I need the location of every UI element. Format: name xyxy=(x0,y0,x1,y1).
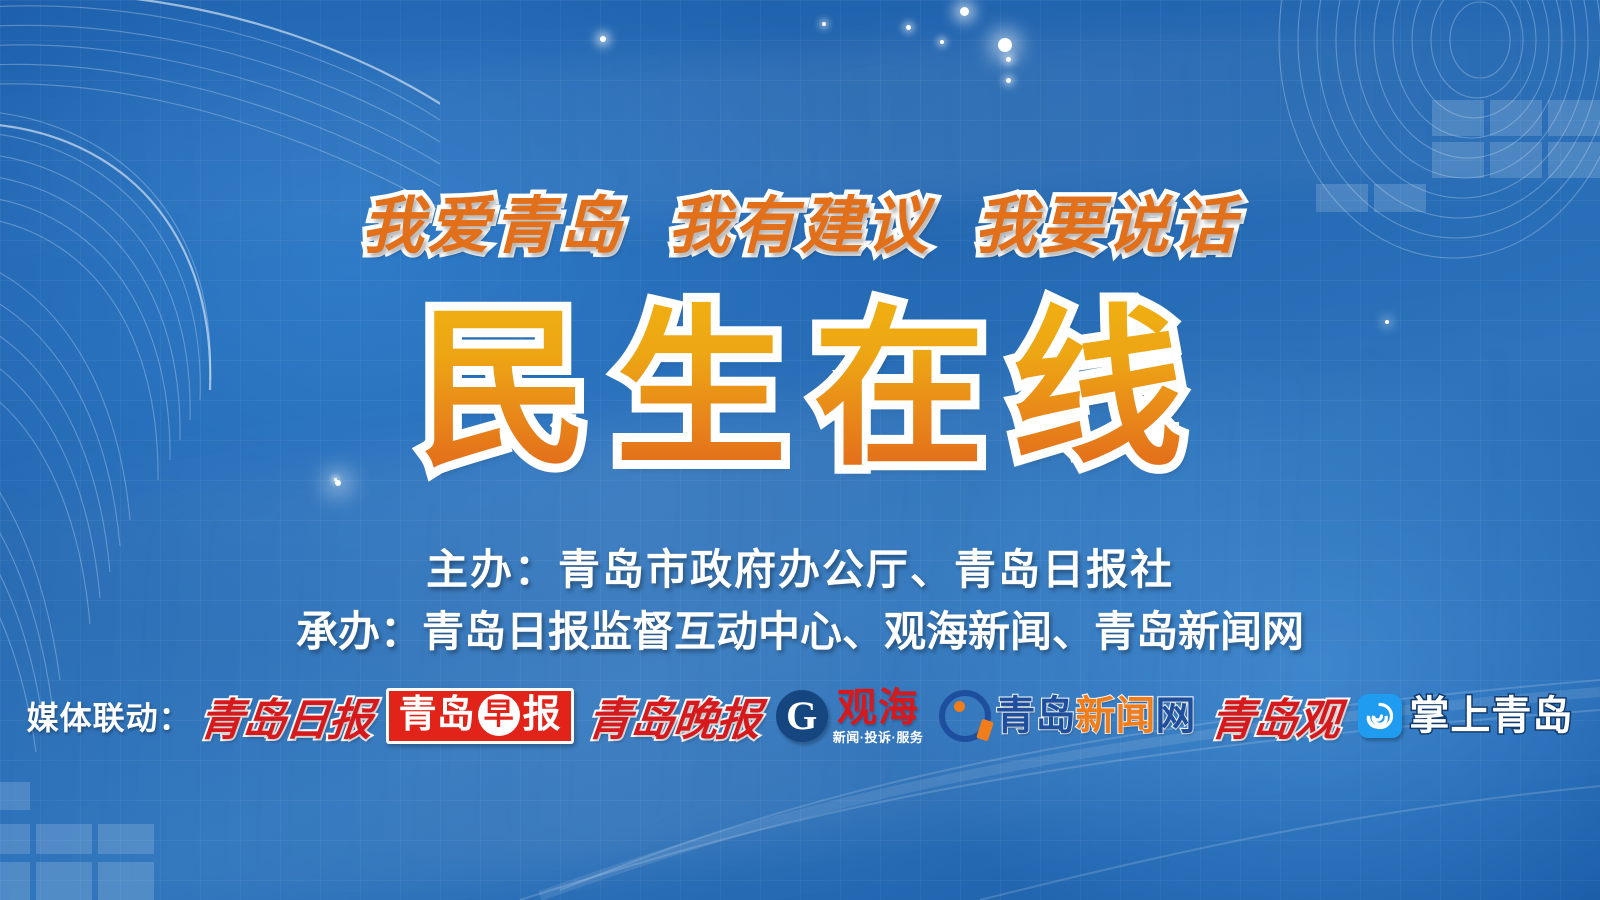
logo-qingdao-daily[interactable]: 青岛日报 xyxy=(200,684,372,748)
guanhai-text-block: 观海 新闻·投诉·服务 xyxy=(833,688,924,744)
undertaker-line: 承办：青岛日报监督互动中心、观海新闻、青岛新闻网 xyxy=(0,598,1600,659)
news-net-text-c: 网 xyxy=(1155,694,1195,738)
logo-zhangshang-qingdao[interactable]: 掌上青岛 xyxy=(1358,694,1573,738)
zhangshang-qingdao-text: 掌上青岛 xyxy=(1409,694,1573,738)
logo-qingdao-news-net[interactable]: 青岛 新闻 网 xyxy=(939,690,1195,742)
news-net-text-b: 新闻 xyxy=(1075,694,1155,738)
logo-guanhai[interactable]: G 观海 新闻·投诉·服务 xyxy=(776,688,924,744)
logo-evening-news-text: 青岛晚报 xyxy=(584,684,763,748)
logo-qingdao-morning-post[interactable]: 青岛 早 报 xyxy=(386,688,574,744)
news-net-text-a: 青岛 xyxy=(995,694,1075,738)
organizer-line: 主办：青岛市政府办公厅、青岛日报社 xyxy=(0,536,1600,597)
media-partners-label: 媒体联动： xyxy=(27,693,192,739)
logo-qingdao-daily-text: 青岛日报 xyxy=(196,684,375,748)
logo-morning-post-text-b: 报 xyxy=(523,694,561,736)
guanhai-subtitle: 新闻·投诉·服务 xyxy=(833,731,924,744)
logo-qingdao-guan[interactable]: 青岛观 xyxy=(1211,684,1340,748)
logo-qingdao-evening-news[interactable]: 青岛晚报 xyxy=(588,684,760,748)
logo-morning-post-text-a: 青岛 xyxy=(399,694,475,736)
logo-morning-post-circle-char: 早 xyxy=(478,694,520,736)
guanhai-g-letter: G xyxy=(786,694,817,738)
main-title-wrapper: 民生在线 民生在线 xyxy=(0,296,1600,496)
banner-stage: 我爱青岛 我有建议 我要说话 我爱青岛 我有建议 我要说话 民生在线 民生在线 … xyxy=(0,0,1600,900)
media-partners-row: 媒体联动： 青岛日报 青岛 早 报 青岛晚报 G 观海 xyxy=(0,680,1600,752)
main-title: 民生在线 xyxy=(0,296,1600,484)
tagline: 我爱青岛 我有建议 我要说话 xyxy=(0,196,1600,258)
guanhai-title: 观海 xyxy=(837,688,919,728)
guanhai-g-mark-icon: G xyxy=(776,690,828,742)
spiral-icon xyxy=(1358,694,1402,738)
logo-qingdao-guan-text: 青岛观 xyxy=(1208,684,1344,748)
qingdao-news-net-mark-icon xyxy=(939,690,991,742)
banner-content: 我爱青岛 我有建议 我要说话 我爱青岛 我有建议 我要说话 民生在线 民生在线 … xyxy=(0,0,1600,900)
